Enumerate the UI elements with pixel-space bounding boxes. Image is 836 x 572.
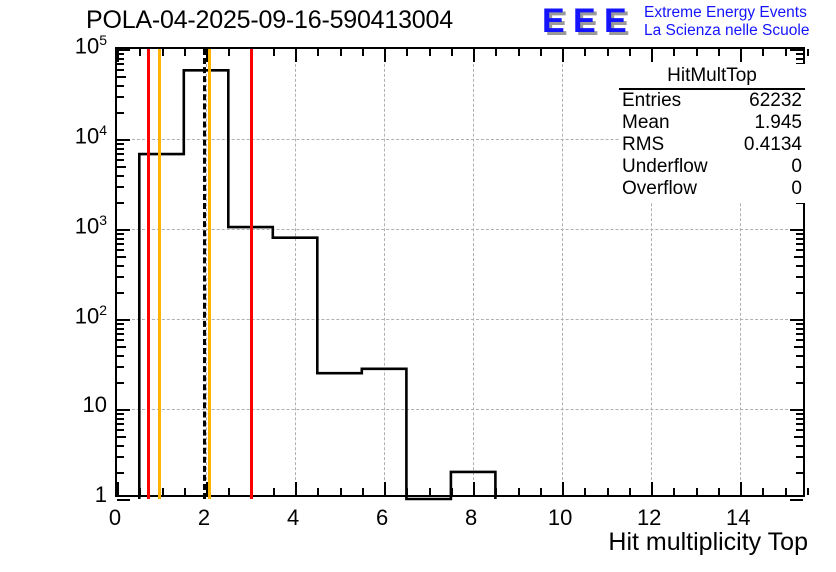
x-axis-title: Hit multiplicity Top (608, 528, 808, 557)
stats-box-rows: Entries62232Mean1.945RMS0.4134Underflow0… (619, 90, 805, 200)
page-title: POLA-04-2025-09-16-590413004 (86, 6, 453, 35)
stats-row: Entries62232 (619, 90, 805, 112)
eee-logo-line2: La Scienza nelle Scuole (644, 22, 809, 40)
eee-letter-3: E (604, 6, 630, 38)
y-tick-label: 102 (75, 302, 107, 329)
x-tick-label: 8 (441, 505, 501, 531)
stats-row: Overflow0 (619, 178, 805, 200)
eee-logo: E E E E E E Extreme Energy Events La Sci… (540, 4, 832, 42)
eee-logo-line1: Extreme Energy Events (644, 4, 809, 22)
eee-letter-2: E (573, 6, 599, 38)
stats-row-label: Mean (622, 112, 670, 134)
x-tick-label: 2 (174, 505, 234, 531)
y-tick-label: 104 (75, 122, 107, 149)
stats-row: RMS0.4134 (619, 134, 805, 156)
eee-logo-mark: E E E E E E (540, 6, 636, 40)
x-tick-label: 10 (530, 505, 590, 531)
stats-row: Underflow0 (619, 156, 805, 178)
stats-row-label: RMS (622, 134, 664, 156)
histogram-outline (139, 70, 495, 499)
stats-row-value: 1.945 (754, 112, 802, 134)
stats-row-label: Overflow (622, 178, 697, 200)
eee-logo-text: Extreme Energy Events La Scienza nelle S… (644, 4, 809, 40)
orange-line-left (158, 49, 161, 499)
x-tick (807, 488, 809, 495)
black-dashed-mean (203, 49, 206, 499)
root-canvas: POLA-04-2025-09-16-590413004 E E E E E E… (0, 0, 836, 572)
stats-box-title: HitMultTop (619, 64, 805, 90)
stats-row-value: 0 (791, 178, 802, 200)
y-tick-label: 103 (75, 212, 107, 239)
y-tick-major-right (790, 499, 803, 501)
y-tick-major (117, 499, 130, 501)
y-tick-label: 10 (83, 392, 107, 418)
red-line-left (147, 49, 150, 499)
x-tick-top (807, 49, 809, 56)
x-tick-label: 4 (263, 505, 323, 531)
x-tick-label: 6 (352, 505, 412, 531)
stats-row-value: 0.4134 (744, 134, 802, 156)
stats-box: HitMultTop Entries62232Mean1.945RMS0.413… (619, 64, 805, 203)
orange-line-right (208, 49, 211, 499)
stats-row: Mean1.945 (619, 112, 805, 134)
stats-row-label: Entries (622, 90, 681, 112)
y-tick-label: 105 (75, 32, 107, 59)
red-line-right (250, 49, 253, 499)
stats-row-value: 62232 (749, 90, 802, 112)
x-tick-label: 0 (85, 505, 145, 531)
stats-row-label: Underflow (622, 156, 708, 178)
stats-row-value: 0 (791, 156, 802, 178)
eee-letter-1: E (542, 6, 568, 38)
